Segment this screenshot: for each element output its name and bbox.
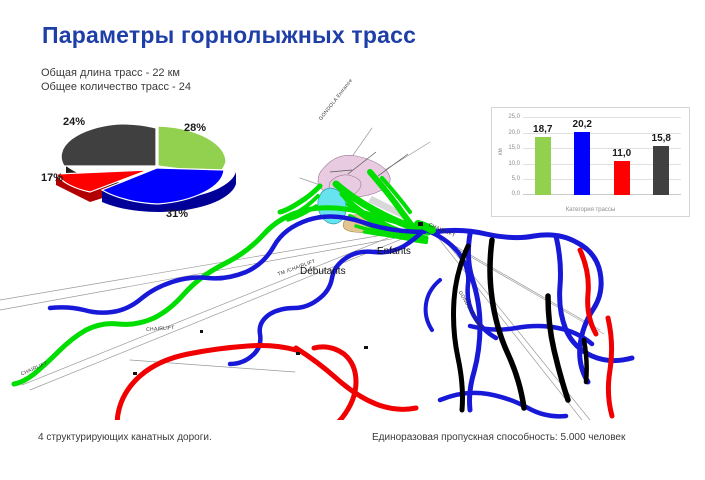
presentation-slide: Параметры горнолыжных трасс Общая длина … <box>0 0 705 480</box>
map-callout-debutants: Débutants <box>300 266 346 277</box>
trail-black-d <box>584 340 587 382</box>
subtitle-line-total-count: Общее количество трасс - 24 <box>41 80 191 94</box>
trail-red-right-b <box>608 318 612 416</box>
trail-green-main-west <box>14 208 424 384</box>
ski-trail-map: Enfants Débutants GONDOLA Entrance CHAIR… <box>0 100 705 420</box>
map-callout-enfants: Enfants <box>377 246 411 257</box>
footer-note-lifts: 4 структурирующих канатных дороги. <box>38 432 212 443</box>
page-title: Параметры горнолыжных трасс <box>42 22 416 49</box>
subtitle-block: Общая длина трасс - 22 км Общее количест… <box>41 66 191 94</box>
trail-blue-right-spur <box>426 280 440 330</box>
footer-note-capacity: Единоразовая пропускная способность: 5.0… <box>372 432 625 443</box>
subtitle-line-total-length: Общая длина трасс - 22 км <box>41 66 191 80</box>
trail-black-a <box>490 240 524 408</box>
ski-trail-map-svg <box>0 100 705 420</box>
trail-red-valley-loop <box>117 346 356 421</box>
trail-blue-right-lower <box>440 393 566 416</box>
